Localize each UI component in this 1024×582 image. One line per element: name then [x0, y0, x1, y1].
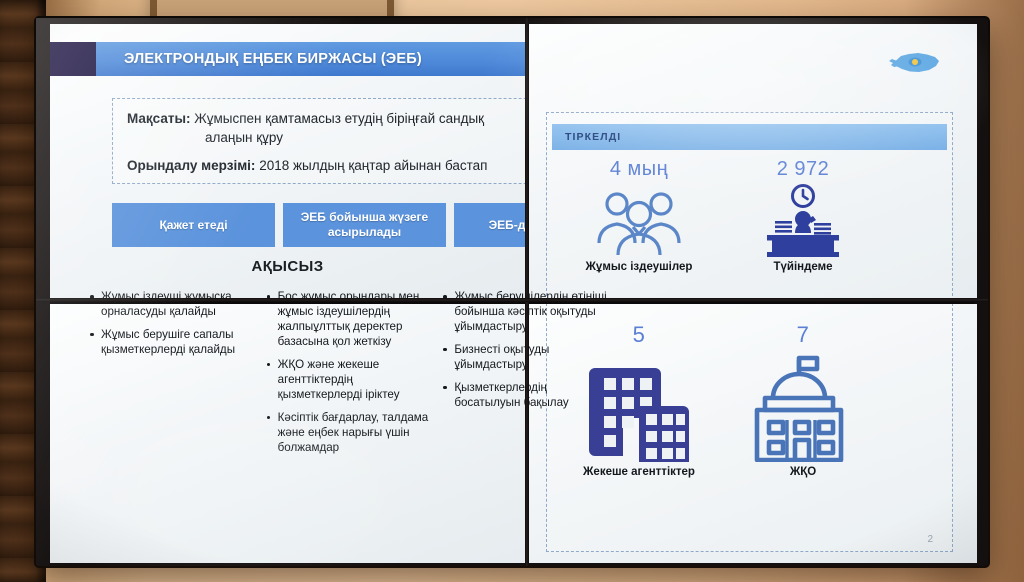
stat-resumes: 2 972 — [728, 158, 878, 274]
list-item: ЖҚО және жекеше агенттіктердің қызметкер… — [265, 358, 432, 403]
pill-button-row: Қажет етеді ЭЕБ бойынша жүзеге асырылады… — [112, 203, 525, 247]
list-item: Бос жұмыс орындары мен жұмыс іздеушілерд… — [265, 290, 432, 350]
pill-button-required[interactable]: Қажет етеді — [112, 203, 275, 247]
free-of-charge-heading: АҚЫСЫЗ — [50, 258, 525, 275]
list-item: Бизнесті оқытуды ұйымдастыру — [441, 343, 608, 373]
person-at-desk-clock-icon — [728, 183, 878, 257]
stat-job-seekers-value: 4 мың — [564, 158, 714, 181]
bullet-columns: Жұмыс іздеуші жұмысқа орналасуды қалайды… — [88, 290, 608, 464]
goal-text-1: Жұмыспен қамтамасыз етудің біріңғай санд… — [194, 111, 484, 126]
kazakhstan-map-icon — [887, 50, 941, 76]
pill-button-implemented[interactable]: ЭЕБ бойынша жүзеге асырылады — [283, 203, 446, 247]
list-item: Жұмыс берушіге сапалы қызметкерлерді қал… — [88, 328, 255, 358]
page-number: 2 — [927, 534, 933, 545]
stat-private-agencies-caption: Жекеше агенттіктер — [564, 465, 714, 479]
goal-line-1: Мақсаты: Жұмыспен қамтамасыз етудің бірі… — [127, 109, 525, 128]
page-title: ЭЛЕКТРОНДЫҚ ЕҢБЕК БИРЖАСЫ (ЭЕБ) — [96, 51, 422, 67]
registered-header-label: ТІРКЕЛДІ — [565, 131, 621, 143]
stat-jko-caption: ЖҚО — [728, 465, 878, 479]
title-accent-tab — [50, 42, 96, 76]
bullet-column-1: Жұмыс іздеуші жұмысқа орналасуды қалайды… — [88, 290, 255, 464]
goal-line-2: Орындалу мерзімі: 2018 жылдың қаңтар айы… — [127, 156, 525, 175]
goal-label-1: Мақсаты: — [127, 111, 191, 126]
panel-top-right: ТІРКЕЛДІ 4 мың Жұмыс іздеушілер — [528, 24, 977, 301]
bullet-column-3: Жұмыс берушілердің өтініші бойынша кәсіп… — [441, 290, 608, 464]
list-item: Кәсіптік бағдарлау, талдама және еңбек н… — [265, 411, 432, 456]
bullet-column-2: Бос жұмыс орындары мен жұмыс іздеушілерд… — [265, 290, 432, 464]
pill-button-expected[interactable]: ЭЕБ-да күтіледі — [454, 203, 525, 247]
registered-header: ТІРКЕЛДІ — [552, 124, 947, 150]
list-item: Жұмыс берушілердің өтініші бойынша кәсіп… — [441, 290, 608, 335]
stat-jko-value: 7 — [728, 322, 878, 348]
goal-line-1b: алаңын құру — [127, 128, 525, 147]
stat-resumes-value: 2 972 — [728, 158, 878, 181]
goal-text-2: 2018 жылдың қаңтар айынан бастап — [259, 158, 487, 173]
panel-top-left: ЭЛЕКТРОНДЫҚ ЕҢБЕК БИРЖАСЫ (ЭЕБ) Мақсаты:… — [50, 24, 525, 301]
goal-label-2: Орындалу мерзімі: — [127, 158, 255, 173]
government-building-icon — [728, 350, 878, 462]
stat-resumes-caption: Түйіндеме — [728, 260, 878, 274]
list-item: Жұмыс іздеуші жұмысқа орналасуды қалайды — [88, 290, 255, 320]
group-of-people-icon — [564, 183, 714, 257]
goal-box: Мақсаты: Жұмыспен қамтамасыз етудің бірі… — [112, 98, 525, 184]
title-banner: ЭЛЕКТРОНДЫҚ ЕҢБЕК БИРЖАСЫ (ЭЕБ) — [96, 42, 525, 76]
stat-jko: 7 — [728, 322, 878, 479]
stat-job-seekers: 4 мың Жұмыс іздеушілер — [564, 158, 714, 274]
stat-job-seekers-caption: Жұмыс іздеушілер — [564, 260, 714, 274]
slide-title-bar: ЭЛЕКТРОНДЫҚ ЕҢБЕК БИРЖАСЫ (ЭЕБ) — [50, 42, 525, 76]
video-wall-display: ЭЛЕКТРОНДЫҚ ЕҢБЕК БИРЖАСЫ (ЭЕБ) Мақсаты:… — [36, 18, 988, 566]
list-item: Қызметкерлердің босатылуын бақылау — [441, 381, 608, 411]
